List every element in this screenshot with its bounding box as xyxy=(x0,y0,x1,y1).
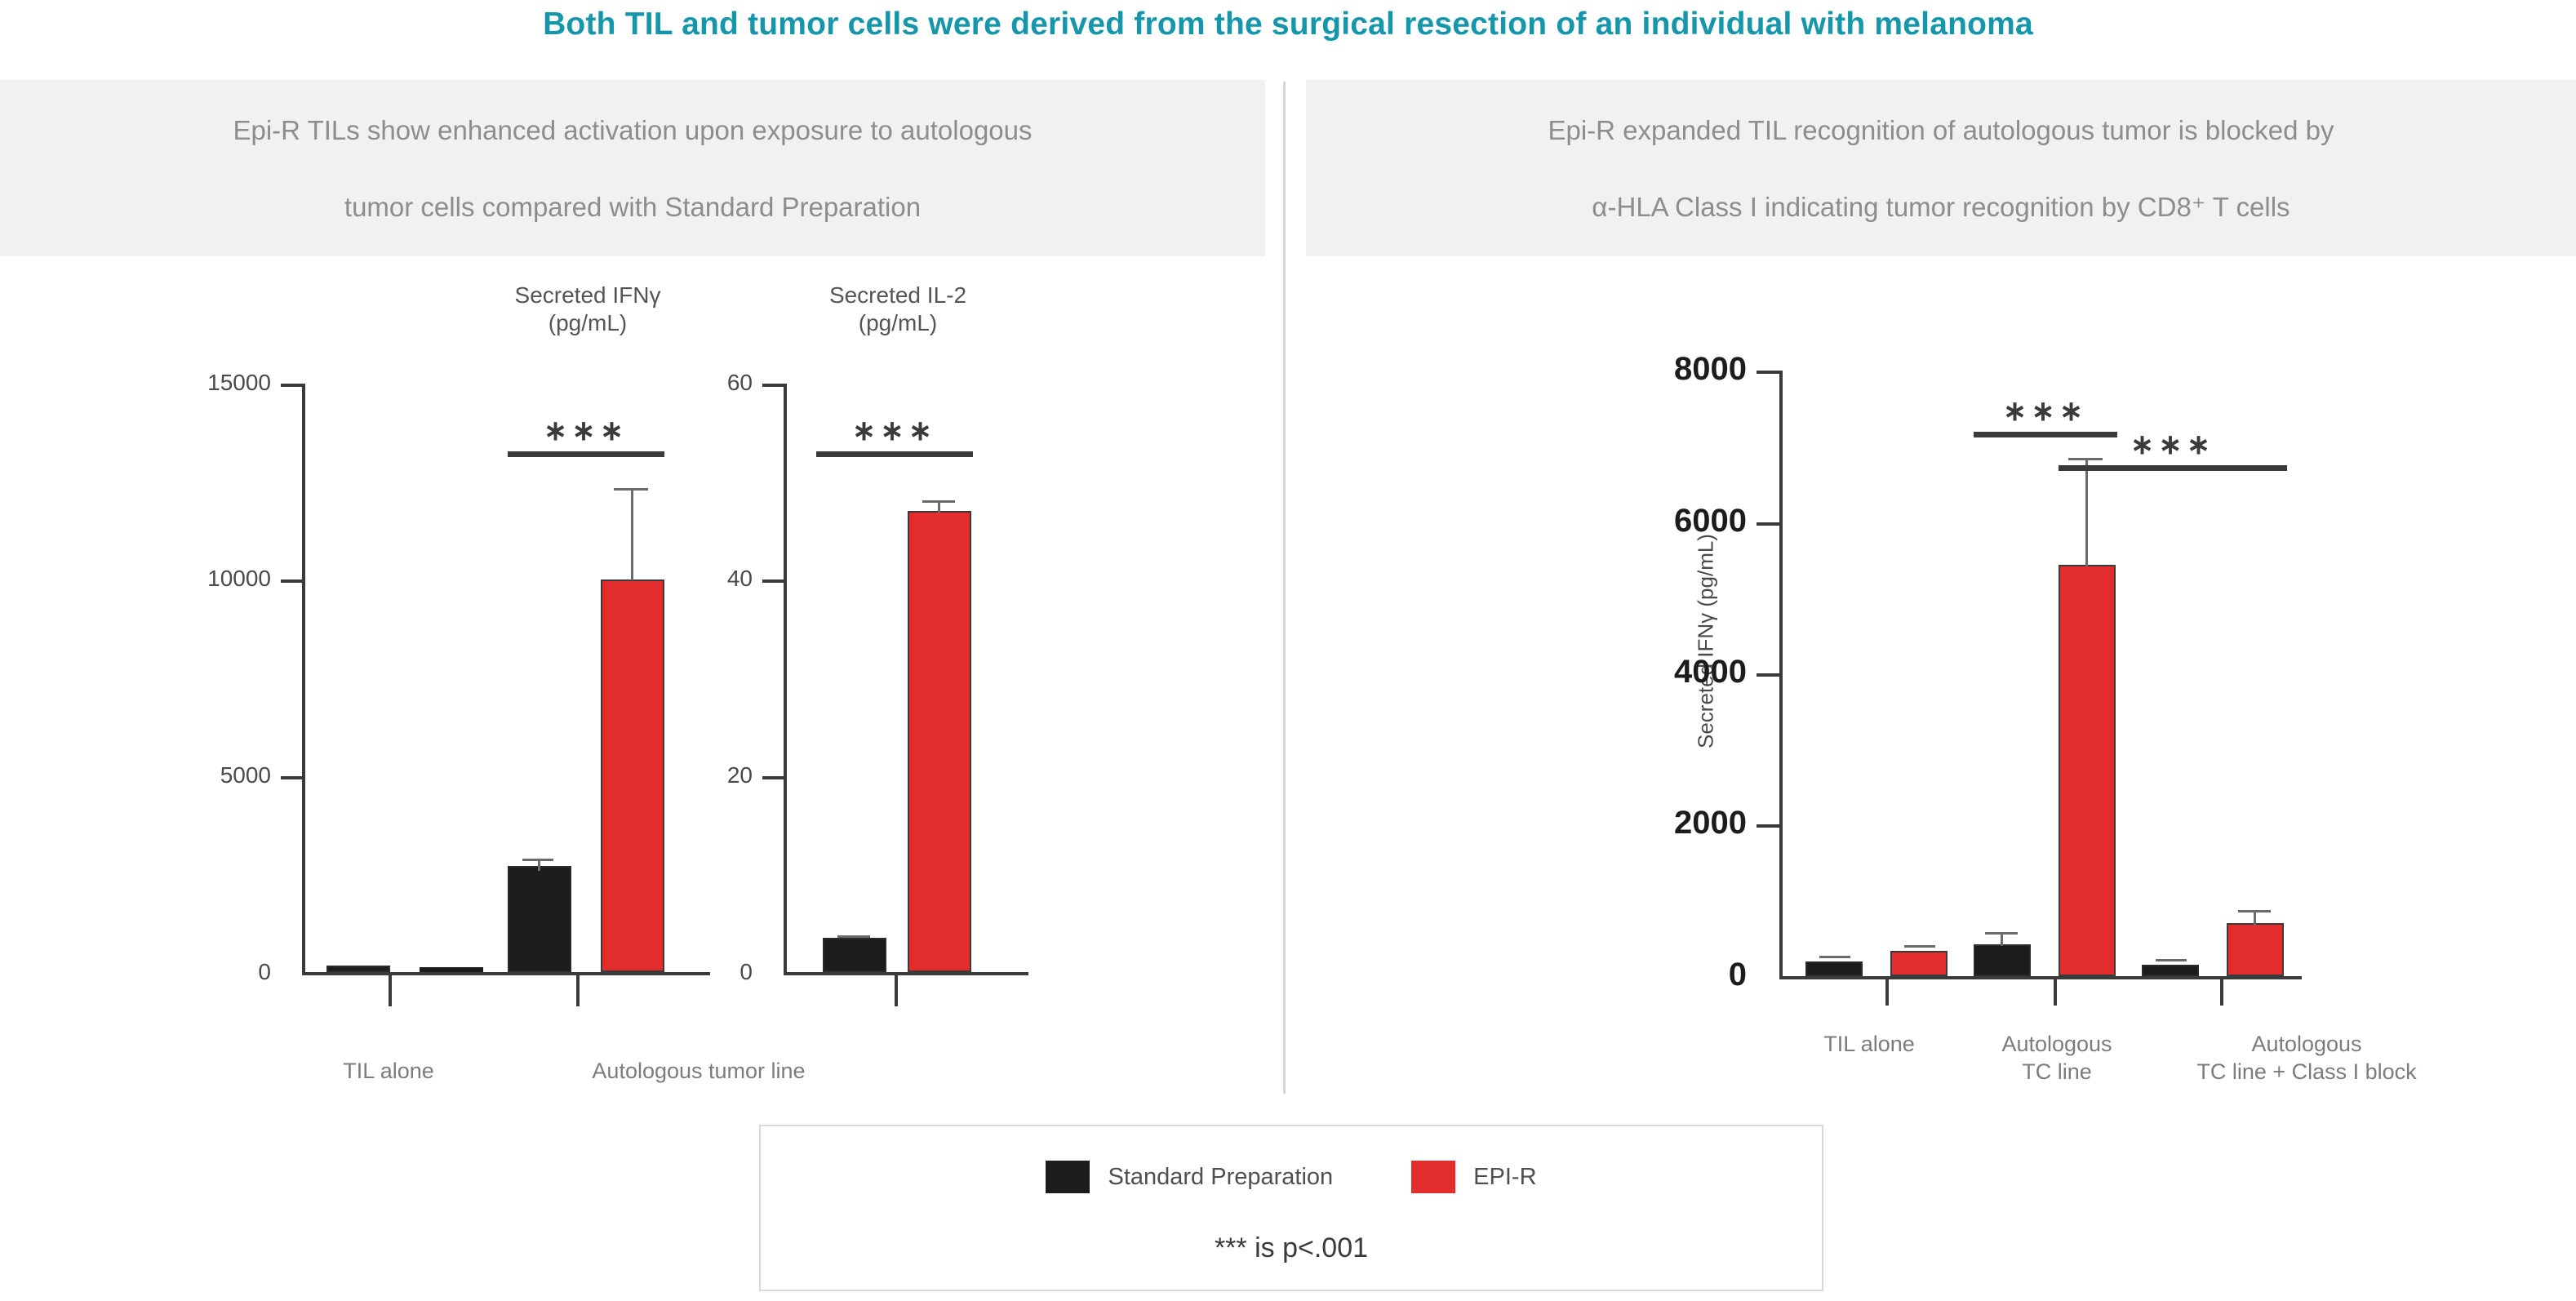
chart-left-il2-title-line2: (pg/mL) xyxy=(859,310,937,335)
right-panel-header-line2: α-HLA Class I indicating tumor recogniti… xyxy=(1515,188,2366,226)
left-panel-header-line1: Epi-R TILs show enhanced activation upon… xyxy=(200,111,1064,149)
right-xlabel-autologous-tc-line2: TC line xyxy=(2022,1059,2092,1084)
errorbar-r-autologous-tc-standard xyxy=(2001,933,2003,946)
bar-il2-standard xyxy=(823,938,886,972)
legend-items: Standard Preparation EPI-R xyxy=(761,1161,1822,1193)
errorbar-r-class-i-block-epir xyxy=(2254,911,2256,926)
left-il2-tick-40 xyxy=(762,579,785,583)
left-il2-xtick-1 xyxy=(895,972,898,1006)
left-ifng-tick-5000 xyxy=(281,776,304,779)
left-ifng-x-axis xyxy=(302,972,710,975)
right-ifng-significance-bar-2 xyxy=(2059,465,2287,471)
legend-item-epi-r: EPI-R xyxy=(1411,1161,1536,1193)
chart-left-ifng-title: Secreted IFNγ (pg/mL) xyxy=(457,282,718,337)
errorcap-il2-epir xyxy=(922,500,955,503)
left-ifng-significance-stars: ∗∗∗ xyxy=(508,415,664,447)
left-ifng-ylabel-5000: 5000 xyxy=(180,762,271,788)
right-xlabel-class-i-block-line1: Autologous xyxy=(2251,1032,2361,1056)
left-ifng-ylabel-0: 0 xyxy=(180,959,271,985)
right-xlabel-autologous-tc: Autologous TC line xyxy=(1959,1030,2155,1086)
bar-il2-epir xyxy=(908,511,971,972)
legend-item-standard-preparation: Standard Preparation xyxy=(1046,1161,1333,1193)
left-xlabel-til-alone: TIL alone xyxy=(291,1057,486,1085)
chart-left-ifng-title-line1: Secreted IFNγ xyxy=(515,282,661,308)
errorcap-autologous-tumor-epir xyxy=(614,488,648,491)
left-il2-significance-stars: ∗∗∗ xyxy=(816,415,973,447)
chart-left-il2-title-line1: Secreted IL-2 xyxy=(829,282,966,308)
bar-r-autologous-tc-standard xyxy=(1974,944,2031,976)
legend-swatch-epi-r xyxy=(1411,1161,1455,1193)
left-ifng-y-axis xyxy=(302,384,305,975)
left-il2-significance-bar xyxy=(816,451,973,457)
errorcap-r-til-alone-standard xyxy=(1819,956,1850,958)
errorbar-autologous-tumor-standard xyxy=(538,859,540,871)
right-ifng-xtick-3 xyxy=(2220,976,2223,1006)
left-ifng-tick-10000 xyxy=(281,579,304,583)
page-title: Both TIL and tumor cells were derived fr… xyxy=(0,7,2576,42)
errorcap-il2-standard xyxy=(837,935,870,938)
right-ifng-x-axis xyxy=(1779,976,2302,979)
errorcap-r-class-i-block-epir xyxy=(2238,910,2271,912)
left-ifng-xtick-2 xyxy=(576,972,580,1006)
right-ifng-significance-stars-1: ∗∗∗ xyxy=(1974,395,2117,428)
left-ifng-xtick-1 xyxy=(389,972,392,1006)
left-il2-tick-20 xyxy=(762,776,785,779)
right-xlabel-class-i-block: Autologous TC line + Class I block xyxy=(2152,1030,2462,1086)
right-ifng-ylabel-0: 0 xyxy=(1632,957,1747,993)
right-xlabel-autologous-tc-line1: Autologous xyxy=(2001,1032,2112,1056)
bar-autologous-tumor-epir xyxy=(601,579,664,972)
right-panel-header-line1: Epi-R expanded TIL recognition of autolo… xyxy=(1515,111,2366,149)
left-xlabel-autologous-tumor-line: Autologous tumor line xyxy=(519,1057,878,1085)
errorcap-r-class-i-block-standard xyxy=(2156,959,2187,961)
left-il2-y-axis xyxy=(784,384,787,975)
bar-til-alone-epir xyxy=(420,967,483,972)
left-il2-ylabel-0: 0 xyxy=(694,959,753,985)
errorcap-autologous-tumor-standard xyxy=(522,859,553,861)
right-panel-header: Epi-R expanded TIL recognition of autolo… xyxy=(1306,80,2576,256)
right-ifng-xtick-1 xyxy=(1885,976,1889,1006)
bar-autologous-tumor-standard xyxy=(508,866,571,972)
bar-r-til-alone-standard xyxy=(1805,961,1863,976)
bar-r-til-alone-epir xyxy=(1890,951,1948,976)
left-panel-header: Epi-R TILs show enhanced activation upon… xyxy=(0,80,1265,256)
bar-til-alone-standard xyxy=(326,966,390,972)
right-ifng-ylabel-6000: 6000 xyxy=(1632,503,1747,539)
errorbar-r-autologous-tc-epir xyxy=(2085,459,2088,566)
bar-r-class-i-block-standard xyxy=(2142,965,2199,976)
right-xlabel-til-alone: TIL alone xyxy=(1779,1030,1959,1058)
legend-pvalue-note: *** is p<.001 xyxy=(761,1232,1822,1264)
chart-left-ifng: Secreted IFNγ (pg/mL) 15000 10000 5000 0… xyxy=(196,343,710,1012)
bar-r-autologous-tc-epir xyxy=(2059,565,2116,976)
legend-swatch-standard-preparation xyxy=(1046,1161,1090,1193)
right-ifng-ylabel-4000: 4000 xyxy=(1632,654,1747,690)
left-il2-tick-60 xyxy=(762,384,785,387)
chart-left-ifng-title-line2: (pg/mL) xyxy=(549,310,627,335)
left-il2-ylabel-60: 60 xyxy=(694,370,753,396)
errorcap-r-til-alone-epir xyxy=(1904,945,1935,948)
left-ifng-ylabel-10000: 10000 xyxy=(180,566,271,592)
legend-box: Standard Preparation EPI-R *** is p<.001 xyxy=(759,1125,1823,1291)
right-ifng-significance-stars-2: ∗∗∗ xyxy=(2059,428,2287,461)
left-il2-x-axis xyxy=(784,972,1028,975)
legend-label-standard-preparation: Standard Preparation xyxy=(1108,1164,1333,1191)
chart-left-il2: Secreted IL-2 (pg/mL) 60 40 20 0 ∗∗∗ xyxy=(702,343,1045,1012)
left-ifng-significance-bar xyxy=(508,451,664,457)
left-ifng-tick-15000 xyxy=(281,384,304,387)
right-ifng-tick-4000 xyxy=(1757,673,1781,677)
errorcap-r-autologous-tc-standard xyxy=(1985,932,2018,935)
left-ifng-ylabel-15000: 15000 xyxy=(180,370,271,396)
left-il2-ylabel-40: 40 xyxy=(694,566,753,592)
right-ifng-tick-2000 xyxy=(1757,824,1781,828)
right-xlabel-til-alone-line1: TIL alone xyxy=(1823,1032,1915,1056)
right-ifng-ylabel-8000: 8000 xyxy=(1632,351,1747,388)
chart-right-ifng: Secreted IFNγ (pg/mL) 8000 6000 4000 200… xyxy=(1649,359,2449,1012)
chart-left-il2-title: Secreted IL-2 (pg/mL) xyxy=(767,282,1028,337)
errorbar-autologous-tumor-epir xyxy=(631,489,633,580)
left-il2-ylabel-20: 20 xyxy=(694,762,753,788)
panel-divider xyxy=(1283,82,1286,1094)
legend-label-epi-r: EPI-R xyxy=(1473,1164,1536,1191)
right-ifng-tick-8000 xyxy=(1757,371,1781,374)
right-xlabel-class-i-block-line2: TC line + Class I block xyxy=(2196,1059,2416,1084)
right-ifng-tick-6000 xyxy=(1757,522,1781,526)
right-ifng-ylabel-2000: 2000 xyxy=(1632,805,1747,841)
errorbar-il2-epir xyxy=(938,501,940,513)
left-panel-header-line2: tumor cells compared with Standard Prepa… xyxy=(200,188,1064,226)
bar-r-class-i-block-epir xyxy=(2227,923,2284,976)
right-ifng-xtick-2 xyxy=(2054,976,2057,1006)
